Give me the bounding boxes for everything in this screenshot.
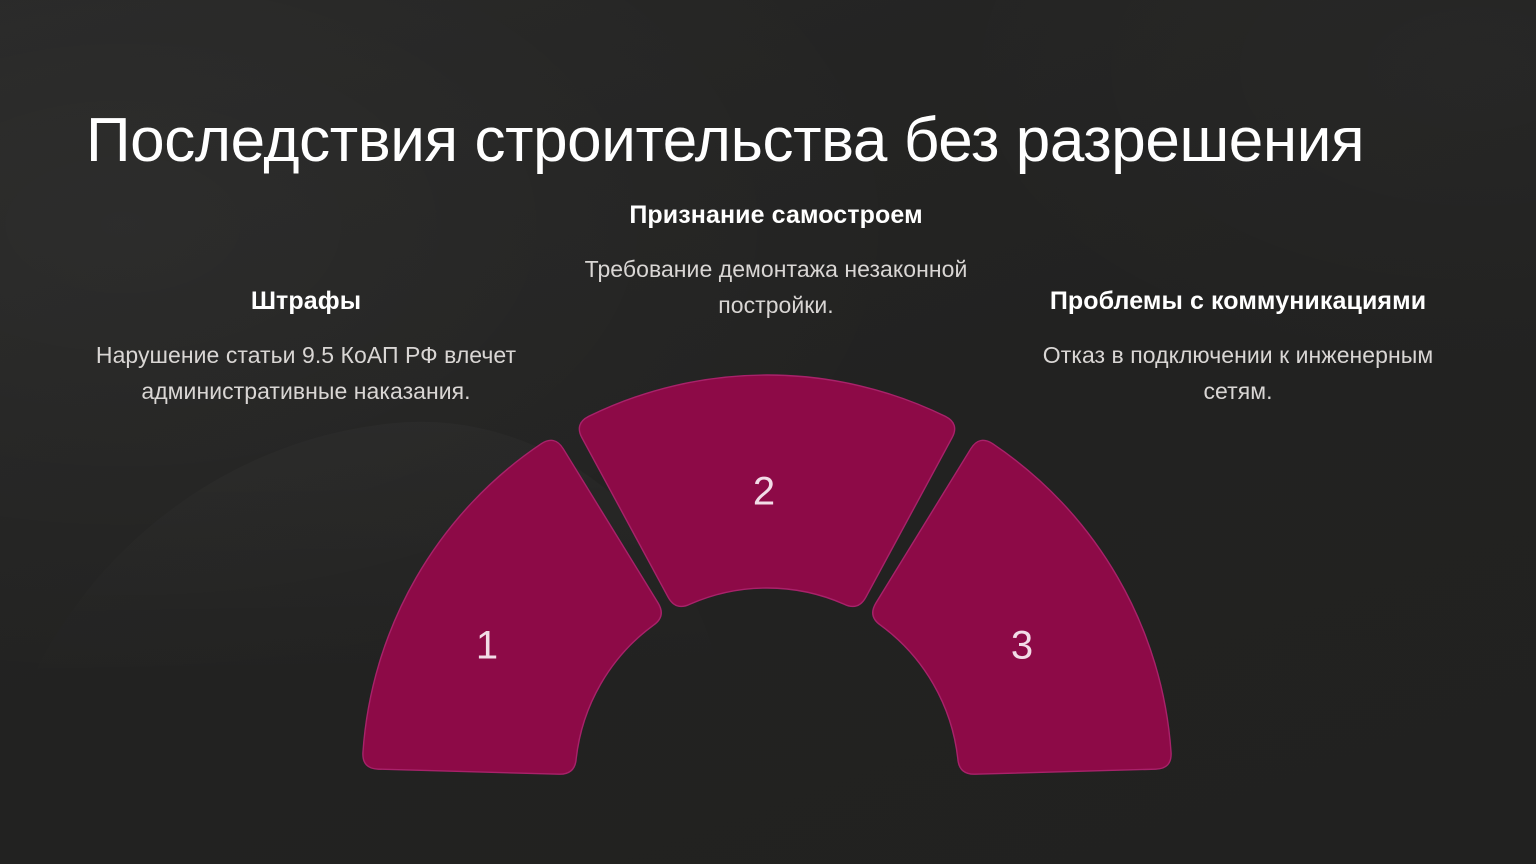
callout-3-body: Отказ в подключении к инженерным сетям.: [1012, 338, 1464, 409]
arc-segment-group: [363, 375, 1171, 774]
callout-2-body: Требование демонтажа незаконной постройк…: [540, 252, 1012, 323]
callout-block-3: Проблемы с коммуникациями Отказ в подклю…: [1012, 284, 1464, 409]
slide-root: Последствия строительства без разрешения…: [0, 0, 1536, 864]
callout-1-heading: Штрафы: [58, 284, 554, 318]
callout-block-2: Признание самостроем Требование демонтаж…: [540, 198, 1012, 323]
callout-block-1: Штрафы Нарушение статьи 9.5 КоАП РФ влеч…: [58, 284, 554, 409]
callout-3-heading: Проблемы с коммуникациями: [1012, 284, 1464, 318]
page-title: Последствия строительства без разрешения: [86, 108, 1466, 174]
callout-1-body: Нарушение статьи 9.5 КоАП РФ влечет адми…: [58, 338, 554, 409]
callout-2-heading: Признание самостроем: [540, 198, 1012, 232]
